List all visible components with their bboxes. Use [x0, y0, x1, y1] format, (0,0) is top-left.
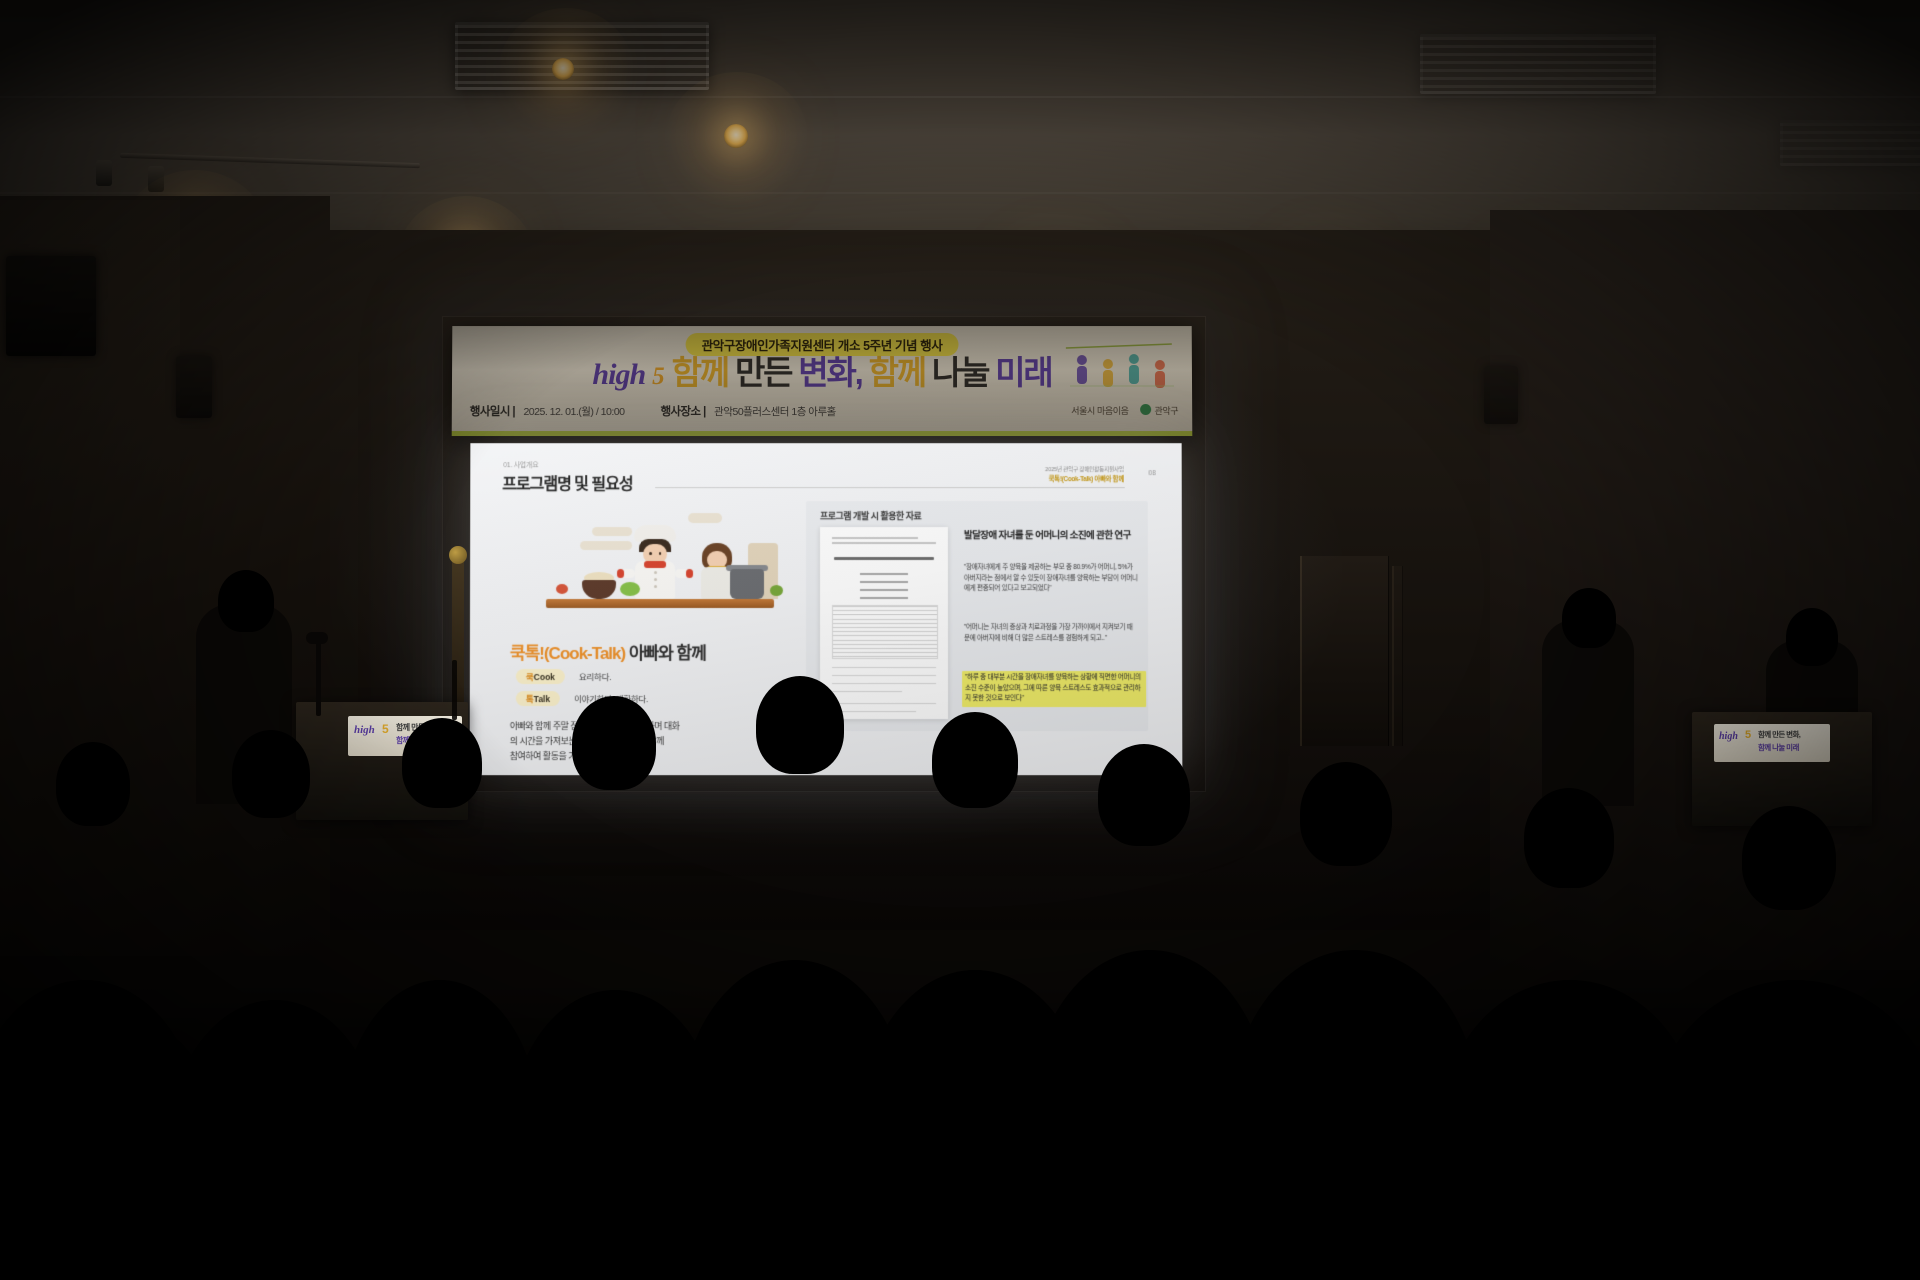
lettuce-icon	[620, 582, 640, 596]
banner-word: 함께	[672, 356, 728, 389]
event-banner: 관악구장애인가족지원센터 개소 5주년 기념 행사 high 5 함께 만든 변…	[452, 326, 1193, 436]
chef-button	[654, 571, 657, 574]
pill-talk: 톡Talk	[516, 691, 560, 706]
research-panel-title: 프로그램 개발 시 활용한 자료	[820, 509, 921, 522]
vegetable-icon	[770, 585, 783, 596]
banner-datetime-key: 행사일시 |	[470, 406, 515, 418]
audience-head	[572, 696, 656, 790]
pill-cook-desc: 요리하다.	[579, 671, 611, 683]
research-quote: "어머니는 자녀의 증상과 치료과정을 가장 가까이에서 지켜보기 때문에 아버…	[964, 623, 1138, 644]
audience-head	[232, 730, 310, 818]
chef-eye	[659, 552, 662, 555]
banner-bottom-stripe	[452, 431, 1193, 436]
paper-meta-line	[832, 542, 936, 544]
gwanak-logo-label: 관악구	[1154, 406, 1178, 416]
podium-right-line2: 함께 나눌 미래	[1758, 742, 1799, 753]
audience-head	[756, 676, 844, 774]
program-headline: 쿡톡!(Cook-Talk) 아빠와 함께	[510, 639, 706, 664]
audience-head	[1742, 806, 1836, 910]
conference-hall-photo: 관악구장애인가족지원센터 개소 5주년 기념 행사 high 5 함께 만든 변…	[0, 0, 1920, 1280]
banner-venue-value: 관악50플러스센터 1층 아루홀	[714, 406, 836, 418]
pill-cook: 쿡Cook	[516, 669, 565, 684]
wall-speaker	[176, 356, 212, 418]
slide-eyebrow: 01. 사업개요	[503, 460, 538, 470]
podium-right-logo: high	[1719, 731, 1738, 742]
slide-title: 프로그램명 및 필요성	[502, 470, 632, 494]
wall-speaker	[1484, 366, 1518, 424]
cooking-pot-icon	[730, 569, 764, 599]
audience-head	[1098, 744, 1190, 846]
gwanak-logo: 관악구	[1140, 404, 1178, 417]
banner-illustration	[1060, 340, 1180, 398]
banner-info: 행사일시 | 2025. 12. 01.(월) / 10:00 행사장소 | 관…	[470, 402, 836, 420]
banner-word: 변화,	[798, 356, 861, 389]
research-highlight: "하루 중 대부분 시간을 장애자녀를 양육하는 상황에 직면한 어머니의 소진…	[962, 671, 1146, 707]
foreground-darkness	[0, 980, 1920, 1280]
podium-right-line1: 함께 만든 변화,	[1758, 729, 1800, 740]
door[interactable]	[1300, 556, 1389, 746]
paper-author-line	[860, 573, 908, 575]
chef-button	[654, 578, 657, 581]
chef-cuff	[617, 569, 624, 578]
banner-word: 함께	[869, 356, 925, 389]
banner-title: high 5 함께 만든 변화, 함께 나눌 미래	[592, 356, 1051, 392]
presenter-right-a-head	[1562, 588, 1616, 648]
chef-button	[654, 585, 657, 588]
high5-logo-text: high	[592, 358, 645, 392]
paper-text-line	[832, 691, 902, 692]
podium-sign-right: high 5 함께 만든 변화, 함께 나눌 미래	[1714, 724, 1830, 762]
slide-header-subtitle: 2025년 관악구 장애인활동지원사업	[1045, 465, 1124, 473]
banner-word: 나눌	[932, 356, 988, 389]
audience-head	[932, 712, 1018, 808]
research-heading: 발달장애 자녀를 둔 어머니의 소진에 관한 연구	[964, 529, 1136, 543]
paper-author-line	[860, 589, 908, 591]
paper-author-line	[860, 581, 908, 583]
pill-cook-ko: 쿡	[526, 672, 534, 682]
definition-row-cook: 쿡Cook 요리하다.	[516, 669, 611, 684]
spotlight-fixture	[96, 160, 112, 186]
pill-talk-en: Talk	[534, 694, 550, 704]
program-name-cooktalk: 쿡톡!(Cook-Talk)	[510, 644, 625, 663]
high5-logo-number: 5	[652, 363, 665, 391]
mother-body	[701, 567, 733, 599]
podium-right-num: 5	[1745, 729, 1751, 741]
paper-meta-line	[832, 537, 918, 539]
cooking-illustration	[534, 505, 784, 630]
research-paper-thumbnail	[820, 527, 948, 719]
bowl-icon	[582, 580, 616, 599]
speech-bubble	[688, 513, 722, 523]
slide-header-program: 쿡톡!(Cook-Talk) 아빠와 함께	[1049, 474, 1124, 483]
audience-head	[1524, 788, 1614, 888]
microphone-stand	[452, 660, 457, 720]
podium-left-num: 5	[382, 722, 389, 736]
flag-finial	[449, 546, 467, 564]
banner-datetime-value: 2025. 12. 01.(월) / 10:00	[523, 406, 624, 418]
banner-venue-key: 행사장소 |	[660, 406, 705, 418]
audience-head	[402, 718, 482, 808]
paper-title-line	[834, 557, 934, 560]
banner-venue: 행사장소 | 관악50플러스센터 1층 아루홀	[660, 402, 835, 420]
air-vent-icon	[1420, 34, 1656, 94]
podium-left-logo: high	[354, 724, 375, 736]
speech-bubble	[580, 541, 632, 550]
air-vent-icon	[1780, 120, 1920, 166]
sponsor-logo-label: 서울시 마음이음	[1071, 404, 1128, 417]
banner-logos: 서울시 마음이음 관악구	[1071, 404, 1178, 417]
ceiling-light	[724, 124, 748, 148]
microphone-head	[306, 632, 328, 644]
ceiling-light	[552, 58, 574, 80]
pill-cook-en: Cook	[534, 672, 555, 682]
audience-head	[1300, 762, 1392, 866]
chef-eye	[649, 552, 652, 555]
research-panel: 프로그램 개발 시 활용한 자료 발달장애 자녀를 둔 어머니의 소진에 관한 …	[806, 501, 1148, 731]
paper-text-line	[832, 667, 936, 668]
paper-author-line	[860, 597, 908, 599]
kitchen-counter	[546, 599, 774, 608]
banner-tag: 관악구장애인가족지원센터 개소 5주년 기념 행사	[686, 333, 959, 356]
pill-talk-ko: 톡	[526, 694, 534, 704]
presenter-left-head	[218, 570, 274, 632]
ceiling-seam	[0, 96, 1920, 98]
slide-title-rule	[655, 487, 1125, 488]
paper-text-line	[832, 711, 916, 712]
slide-page-number: 08	[1148, 470, 1155, 477]
paper-abstract-block	[832, 605, 938, 659]
paper-text-line	[832, 683, 936, 684]
chef-cuff	[686, 569, 693, 578]
chef-collar	[644, 561, 666, 568]
research-quote: "장애자녀에게 주 양육을 제공하는 부모 중 80.9%가 어머니, 5%가 …	[964, 563, 1138, 595]
gwanak-mark-icon	[1140, 404, 1151, 415]
microphone-stand	[316, 640, 321, 716]
banner-word: 미래	[995, 356, 1051, 389]
air-vent-icon	[455, 22, 709, 90]
program-name-suffix: 아빠와 함께	[625, 644, 706, 663]
banner-datetime: 행사일시 | 2025. 12. 01.(월) / 10:00	[470, 402, 625, 420]
door-frame	[1392, 566, 1403, 746]
tomato-icon	[556, 584, 568, 594]
paper-text-line	[832, 675, 936, 676]
ceiling-seam	[0, 192, 1920, 194]
presenter-right-b-head	[1786, 608, 1838, 666]
paper-text-line	[832, 703, 936, 704]
loudspeaker	[6, 256, 96, 356]
banner-word: 만든	[735, 356, 791, 389]
audience-head	[56, 742, 130, 826]
spotlight-fixture	[148, 166, 164, 192]
